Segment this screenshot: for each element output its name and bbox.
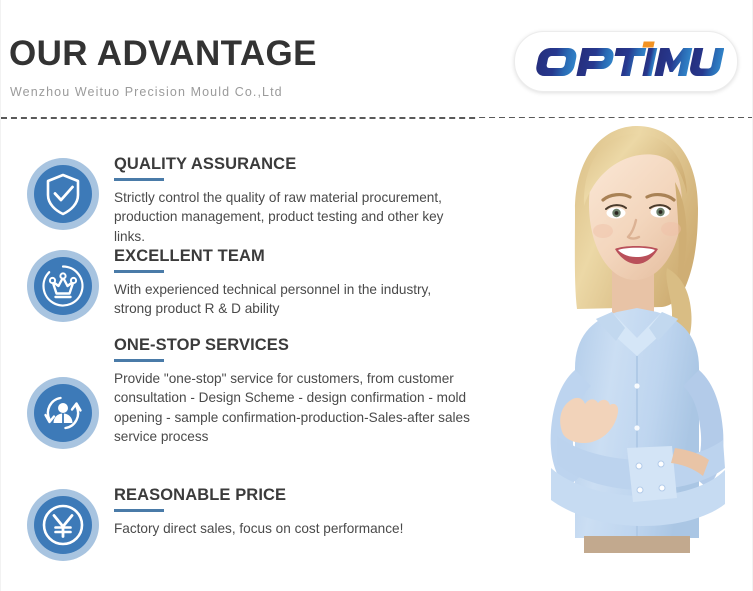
feature-title: ONE-STOP SERVICES	[114, 337, 494, 354]
title-underline	[114, 509, 164, 512]
header: OUR ADVANTAGE Wenzhou Weituo Precision M…	[1, 0, 753, 118]
feature-description: Provide "one-stop" service for customers…	[114, 369, 476, 447]
businesswoman-photo	[479, 118, 753, 553]
title-underline	[114, 359, 164, 362]
shield-check-icon	[25, 156, 101, 232]
logo-accent-icon	[642, 41, 654, 47]
crown-icon	[25, 248, 101, 324]
optimum-logo-icon	[528, 40, 724, 84]
feature-body: QUALITY ASSURANCE Strictly control the q…	[114, 156, 494, 246]
feature-title: REASONABLE PRICE	[114, 487, 494, 504]
feature-body: ONE-STOP SERVICES Provide "one-stop" ser…	[114, 337, 494, 447]
page-title: OUR ADVANTAGE	[9, 36, 317, 71]
title-underline	[114, 178, 164, 181]
feature-description: Factory direct sales, focus on cost perf…	[114, 519, 469, 539]
feature-description: Strictly control the quality of raw mate…	[114, 188, 474, 247]
company-logo	[514, 31, 738, 92]
feature-body: REASONABLE PRICE Factory direct sales, f…	[114, 487, 494, 538]
company-name: Wenzhou Weituo Precision Mould Co.,Ltd	[10, 86, 283, 99]
feature-description: With experienced technical personnel in …	[114, 280, 434, 319]
service-cycle-icon	[25, 375, 101, 451]
yen-coin-icon	[25, 487, 101, 563]
businesswoman-illustration	[479, 118, 753, 553]
title-underline	[114, 270, 164, 273]
feature-title: EXCELLENT TEAM	[114, 248, 494, 265]
feature-title: QUALITY ASSURANCE	[114, 156, 494, 173]
feature-body: EXCELLENT TEAM With experienced technica…	[114, 248, 494, 319]
advantage-banner: OUR ADVANTAGE Wenzhou Weituo Precision M…	[0, 0, 753, 591]
